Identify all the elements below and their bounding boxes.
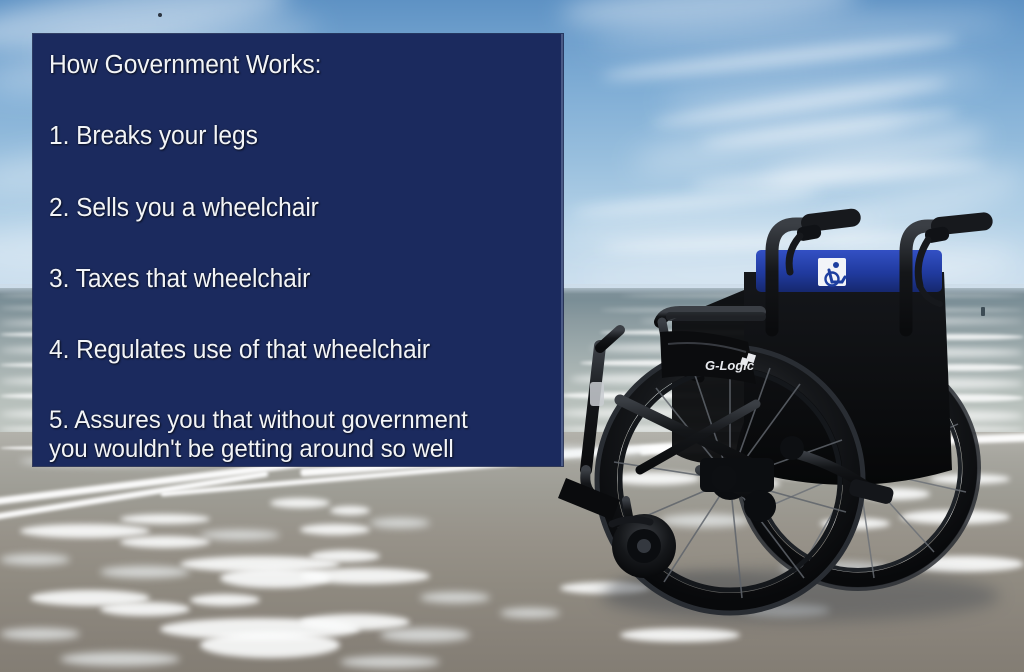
bird-icon: [158, 13, 162, 17]
caption-item-3: 3. Taxes that wheelchair: [49, 266, 532, 293]
caption-item-5-line-2: you wouldn't be getting around so well: [49, 435, 532, 464]
caption-box: How Government Works: 1. Breaks your leg…: [33, 34, 563, 466]
distant-boat: [981, 307, 985, 316]
caption-item-1: 1. Breaks your legs: [49, 123, 532, 150]
caption-title: How Government Works:: [49, 52, 532, 79]
beach-layer: [0, 432, 1024, 672]
caption-item-4: 4. Regulates use of that wheelchair: [49, 337, 532, 364]
caption-item-5-line-1: 5. Assures you that without government: [49, 406, 532, 435]
caption-item-2: 2. Sells you a wheelchair: [49, 195, 532, 222]
meme-image: G-Logic: [0, 0, 1024, 672]
